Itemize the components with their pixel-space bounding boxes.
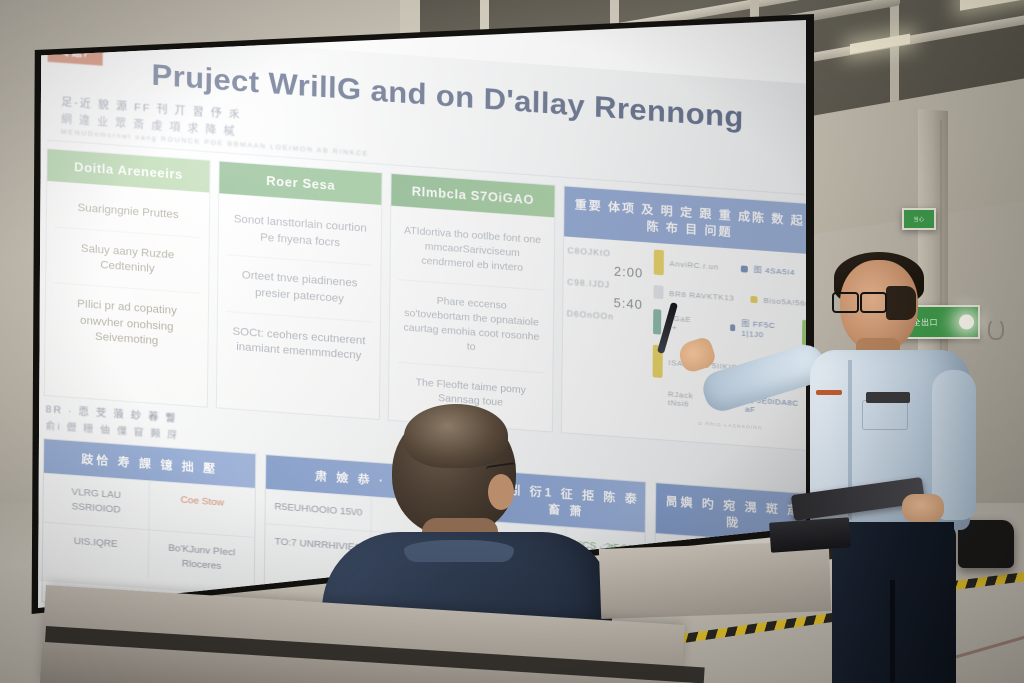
table-cell: UIS.IQRE — [43, 523, 149, 579]
chart-row: RGaE 4+ 图 FF5C 1|1J0 — [653, 309, 811, 345]
table-cell: Coe Stow — [148, 481, 255, 537]
card-body: ATIdortiva tho ootlbe font one mmcaorSar… — [389, 206, 554, 432]
table-cell: Bo'KJunv PIecl Rloceres — [148, 530, 255, 586]
side-table — [599, 541, 831, 619]
slide-card: Roer Sesa Sonot lansttorlain courtion Pe… — [216, 161, 383, 420]
ceiling-light — [960, 0, 1024, 11]
card-bullet: Phare eccenso so'tovebortam the opnataio… — [398, 280, 545, 373]
card-body: Suarigngnie Pruttes Saluy aany Ruzde Ced… — [45, 181, 209, 371]
chart-status-chip — [653, 309, 662, 335]
chart-row-dot-icon — [730, 324, 736, 331]
meeting-room-scene: 安全出口 当心 安全出口 专题7 Pruject WrillG and on D… — [0, 0, 1024, 683]
glasses-icon — [832, 292, 886, 310]
uniform-logo — [816, 390, 842, 395]
chart-axis: C8OJKtO 2:00 C98.IJDJ 5:40 D6ОnООn — [566, 243, 654, 423]
laptop-device — [769, 517, 851, 553]
presenter-sideburn — [886, 286, 916, 320]
chart-row: AnviRC.r.un 图 4SA5I4 — [653, 250, 811, 286]
name-badge — [866, 392, 910, 403]
shirt-pocket — [862, 400, 908, 430]
card-bullet: SOCt: ceohers ecutnerent inamiant emenmm… — [225, 312, 372, 378]
card-body: Sonot lansttorlain courtion Pe fnyena fo… — [217, 193, 381, 383]
viewer-collar — [404, 540, 514, 562]
slide-card: Doitla Areneeirs Suarigngnie Pruttes Sal… — [44, 148, 211, 407]
safety-sign-wall: 当心 — [902, 208, 936, 230]
card-bullet: Saluy aany Ruzde Cedteninly — [54, 227, 201, 294]
chart-row-right-label: 图 4SA5I4 — [754, 264, 795, 278]
chart-status-chip — [653, 285, 663, 299]
table-cell: VLRG LAU SSRIOIOD — [43, 474, 149, 530]
card-bullet: Sonot lansttorlain courtion Pe fnyena fo… — [227, 200, 374, 267]
chart-row-dot-icon — [741, 265, 748, 272]
chart-row-dot-icon — [750, 295, 757, 302]
chart-axis-label: C8OJKtO — [567, 245, 653, 261]
chart-row-label: AnviRC.r.un — [669, 259, 718, 271]
chart-row-right-label: 图 FF5C 1|1J0 — [741, 318, 790, 341]
slide-card: Rlmbcla S7OiGAO ATIdortiva tho ootlbe fo… — [388, 173, 555, 432]
viewer-ear — [488, 474, 514, 510]
presenter-holding-hand — [902, 494, 944, 522]
chart-status-chip — [653, 250, 663, 276]
card-bullet: Orteet tnve piadinenes presier patercoey — [226, 256, 373, 323]
card-bullet: ATIdortiva tho ootlbe font one mmcaorSar… — [399, 212, 546, 290]
card-bullet: PIlici pr ad copatiny onwvher onohsing S… — [53, 283, 200, 365]
ceiling-light — [850, 34, 910, 55]
viewer-hair — [404, 404, 508, 468]
chart-footer: O RRIG-LASNSOINO — [652, 418, 809, 435]
safety-sign-label: 当心 — [913, 216, 924, 223]
standing-presenter — [790, 240, 1024, 683]
chart-row-label: BR8 RAVKTK13 — [669, 289, 734, 302]
trouser-split — [890, 580, 895, 683]
